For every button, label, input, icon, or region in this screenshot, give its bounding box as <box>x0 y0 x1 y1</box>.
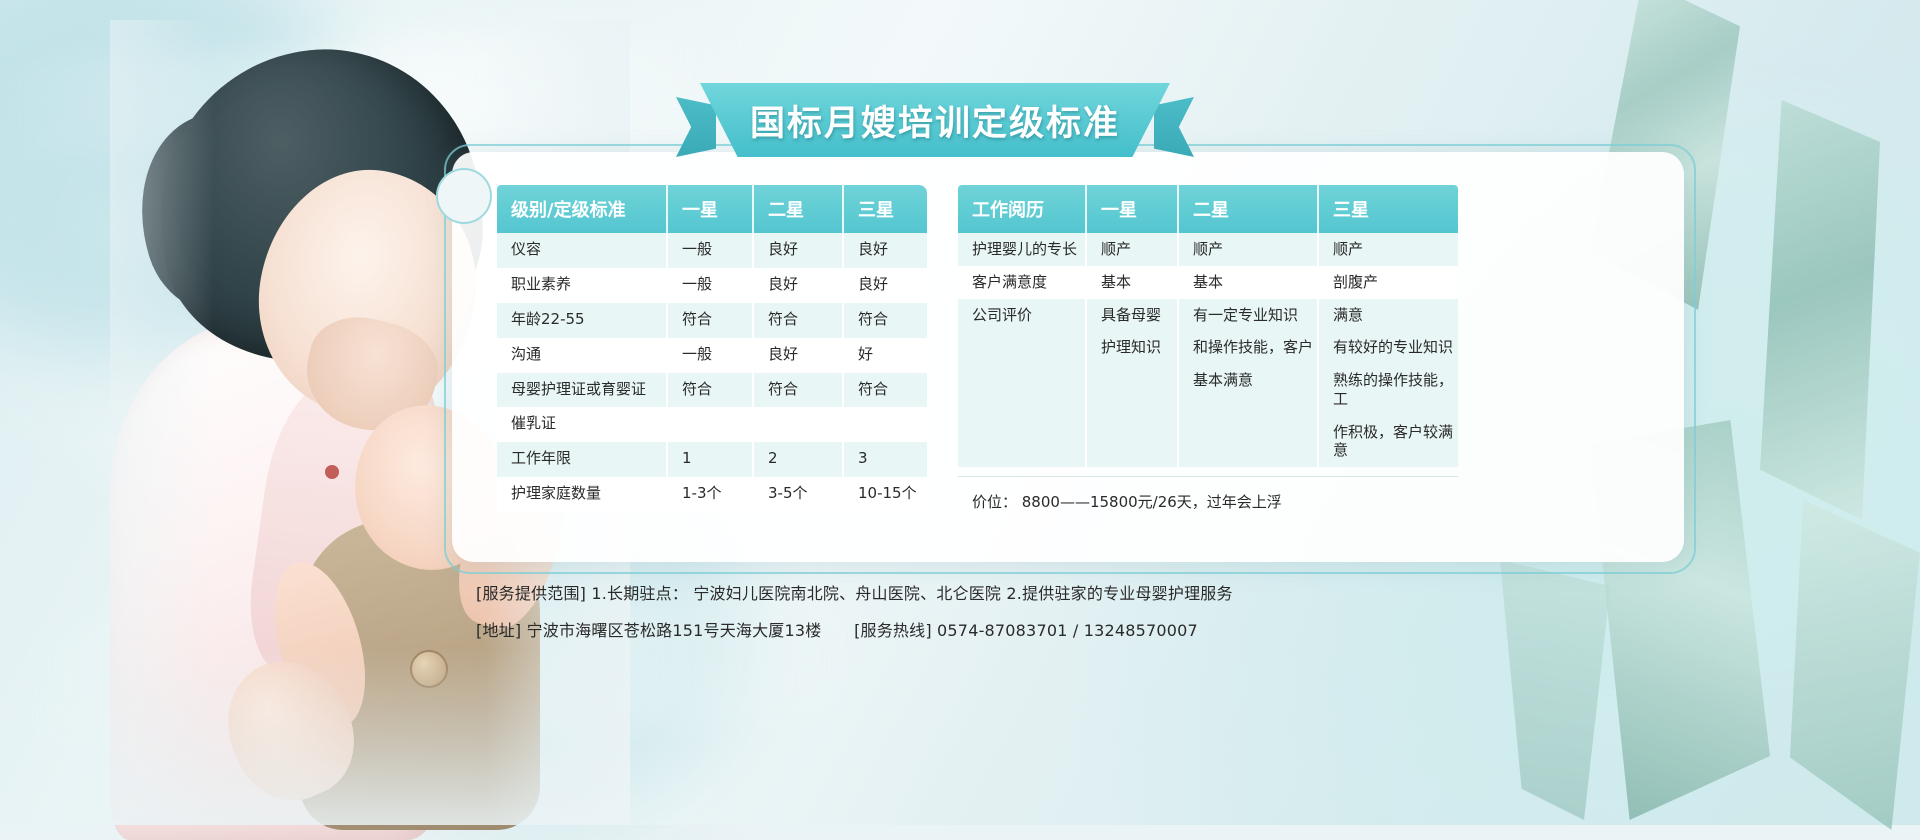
col-header-two-star: 二星 <box>753 185 843 233</box>
cell-criteria: 工作年限 <box>497 442 667 477</box>
work-experience-table: 工作阅历 一星 二星 三星 护理婴儿的专长 顺产 顺产 顺产 客户满意度 基本 … <box>958 185 1458 467</box>
work-experience-section: 工作阅历 一星 二星 三星 护理婴儿的专长 顺产 顺产 顺产 客户满意度 基本 … <box>958 185 1458 512</box>
table-row: 作积极，客户较满意 <box>958 416 1458 468</box>
footer-service-scope: [服务提供范围] 1.长期驻点： 宁波妇儿医院南北院、舟山医院、北仑医院 2.提… <box>476 580 1676 604</box>
cell-criteria: 仪容 <box>497 233 667 268</box>
cell-experience <box>958 331 1086 364</box>
col-header-experience: 工作阅历 <box>958 185 1086 233</box>
table-row: 工作年限 1 2 3 <box>497 442 927 477</box>
banner: 国标月嫂培训定级标准 <box>700 83 1170 157</box>
cell-two-star: 符合 <box>753 373 843 408</box>
cell-criteria: 年龄22-55 <box>497 303 667 338</box>
cell-one-star: 符合 <box>667 303 753 338</box>
cell-two-star: 顺产 <box>1178 233 1318 266</box>
cell-three-star: 作积极，客户较满意 <box>1318 416 1458 468</box>
col-header-three-star: 三星 <box>843 185 927 233</box>
cell-two-star <box>753 407 843 442</box>
table-row: 公司评价 具备母婴 有一定专业知识 满意 <box>958 299 1458 332</box>
table-row: 护理知识 和操作技能，客户 有较好的专业知识 <box>958 331 1458 364</box>
footer-contact-line: [地址] 宁波市海曙区苍松路151号天海大厦13楼 [服务热线] 0574-87… <box>476 617 1676 641</box>
cell-two-star: 良好 <box>753 338 843 373</box>
cell-two-star <box>1178 416 1318 468</box>
cell-one-star: 1-3个 <box>667 477 753 512</box>
cell-two-star: 和操作技能，客户 <box>1178 331 1318 364</box>
table-row: 客户满意度 基本 基本 剖腹产 <box>958 266 1458 299</box>
cell-three-star: 剖腹产 <box>1318 266 1458 299</box>
cell-criteria: 沟通 <box>497 338 667 373</box>
cell-one-star: 一般 <box>667 233 753 268</box>
cell-one-star: 具备母婴 <box>1086 299 1178 332</box>
cell-two-star: 符合 <box>753 303 843 338</box>
table-row: 基本满意 熟练的操作技能，工 <box>958 364 1458 416</box>
table-header-row: 级别/定级标准 一星 二星 三星 <box>497 185 927 233</box>
cell-two-star: 2 <box>753 442 843 477</box>
cell-three-star: 好 <box>843 338 927 373</box>
price-divider <box>958 476 1458 477</box>
cell-two-star: 基本满意 <box>1178 364 1318 416</box>
cell-criteria: 职业素养 <box>497 268 667 303</box>
cell-two-star: 3-5个 <box>753 477 843 512</box>
cell-experience <box>958 364 1086 416</box>
col-header-one-star: 一星 <box>1086 185 1178 233</box>
cell-one-star: 符合 <box>667 373 753 408</box>
table-row: 职业素养 一般 良好 良好 <box>497 268 927 303</box>
cell-two-star: 良好 <box>753 233 843 268</box>
cell-one-star <box>1086 416 1178 468</box>
cell-one-star: 护理知识 <box>1086 331 1178 364</box>
decorative-ribbon <box>1760 100 1880 520</box>
cell-one-star: 一般 <box>667 268 753 303</box>
cell-two-star: 有一定专业知识 <box>1178 299 1318 332</box>
col-header-two-star: 二星 <box>1178 185 1318 233</box>
cell-two-star: 基本 <box>1178 266 1318 299</box>
grading-standard-table: 级别/定级标准 一星 二星 三星 仪容 一般 良好 良好 职业素养 一般 良好 … <box>497 185 927 512</box>
page-title: 国标月嫂培训定级标准 <box>700 83 1170 157</box>
col-header-one-star: 一星 <box>667 185 753 233</box>
footer-hotline: [服务热线] 0574-87083701 / 13248570007 <box>854 621 1198 640</box>
cell-three-star: 良好 <box>843 233 927 268</box>
cell-one-star <box>667 407 753 442</box>
cell-three-star: 3 <box>843 442 927 477</box>
table-header-row: 工作阅历 一星 二星 三星 <box>958 185 1458 233</box>
table-row: 沟通 一般 良好 好 <box>497 338 927 373</box>
cell-one-star: 1 <box>667 442 753 477</box>
cell-one-star: 基本 <box>1086 266 1178 299</box>
col-header-three-star: 三星 <box>1318 185 1458 233</box>
cell-three-star: 符合 <box>843 373 927 408</box>
col-header-criteria: 级别/定级标准 <box>497 185 667 233</box>
price-note: 价位： 8800——15800元/26天，过年会上浮 <box>958 491 1458 512</box>
cell-one-star: 顺产 <box>1086 233 1178 266</box>
table-row: 催乳证 <box>497 407 927 442</box>
cell-criteria: 母婴护理证或育婴证 <box>497 373 667 408</box>
table-row: 母婴护理证或育婴证 符合 符合 符合 <box>497 373 927 408</box>
cell-experience <box>958 416 1086 468</box>
cell-experience: 护理婴儿的专长 <box>958 233 1086 266</box>
cell-experience: 客户满意度 <box>958 266 1086 299</box>
cell-criteria: 催乳证 <box>497 407 667 442</box>
table-row: 仪容 一般 良好 良好 <box>497 233 927 268</box>
table-row: 年龄22-55 符合 符合 符合 <box>497 303 927 338</box>
cell-experience: 公司评价 <box>958 299 1086 332</box>
table-row: 护理婴儿的专长 顺产 顺产 顺产 <box>958 233 1458 266</box>
panel-notch <box>436 168 492 224</box>
cell-three-star: 顺产 <box>1318 233 1458 266</box>
cell-three-star <box>843 407 927 442</box>
cell-three-star: 符合 <box>843 303 927 338</box>
cell-three-star: 10-15个 <box>843 477 927 512</box>
cell-three-star: 满意 <box>1318 299 1458 332</box>
tables-container: 级别/定级标准 一星 二星 三星 仪容 一般 良好 良好 职业素养 一般 良好 … <box>497 185 1642 512</box>
footer-address: [地址] 宁波市海曙区苍松路151号天海大厦13楼 <box>476 621 821 640</box>
cell-three-star: 有较好的专业知识 <box>1318 331 1458 364</box>
decorative-ribbon <box>1790 500 1920 830</box>
cell-one-star <box>1086 364 1178 416</box>
cell-one-star: 一般 <box>667 338 753 373</box>
cell-two-star: 良好 <box>753 268 843 303</box>
cell-three-star: 良好 <box>843 268 927 303</box>
table-row: 护理家庭数量 1-3个 3-5个 10-15个 <box>497 477 927 512</box>
cell-criteria: 护理家庭数量 <box>497 477 667 512</box>
footer: [服务提供范围] 1.长期驻点： 宁波妇儿医院南北院、舟山医院、北仑医院 2.提… <box>476 580 1676 654</box>
cell-three-star: 熟练的操作技能，工 <box>1318 364 1458 416</box>
